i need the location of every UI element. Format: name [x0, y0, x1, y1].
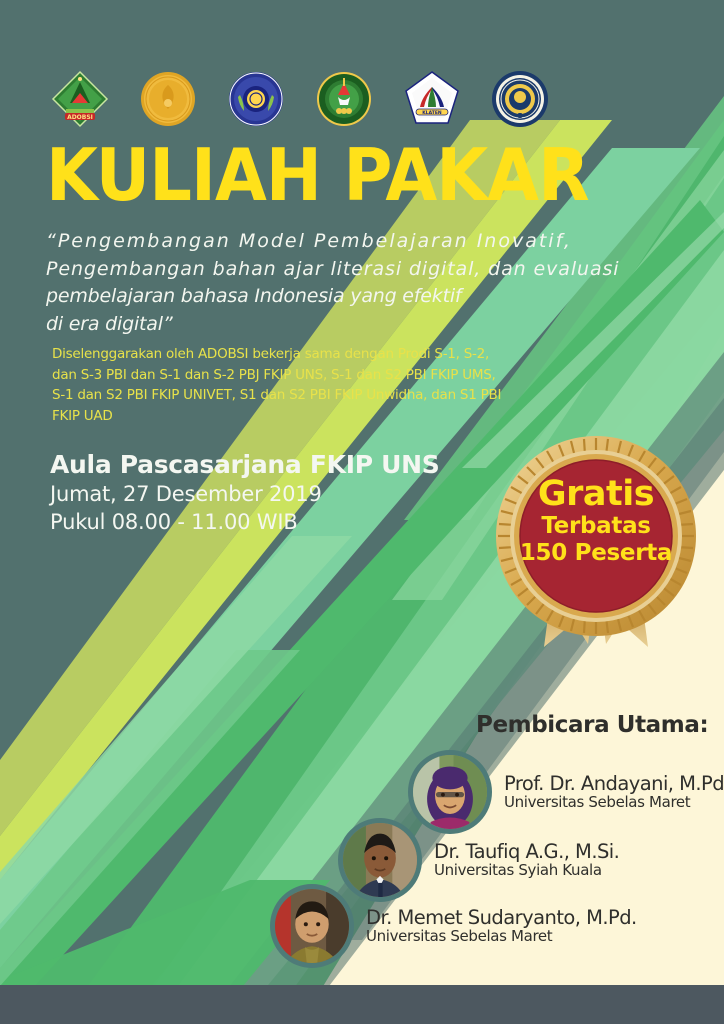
svg-text:KLATEN: KLATEN [422, 110, 442, 116]
speaker-name: Prof. Dr. Andayani, M.Pd. [504, 773, 724, 794]
organizer-line-2: dan S-3 PBI dan S-1 dan S-2 PBJ FKIP UNS… [52, 365, 522, 386]
event-venue: Aula Pascasarjana FKIP UNS [50, 448, 439, 481]
page-title: KULIAH PAKAR [46, 139, 589, 211]
bottom-bar [0, 985, 724, 1024]
uns-logo [138, 69, 198, 129]
speaker-row: Dr. Memet Sudaryanto, M.Pd. Universitas … [270, 884, 637, 968]
organizer-line-3: S-1 dan S2 PBI FKIP UNIVET, S1 dan S2 PB… [52, 385, 522, 406]
organizer-block: Diselenggarakan oleh ADOBSI bekerja sama… [52, 344, 522, 426]
speaker-org: Universitas Sebelas Maret [366, 928, 637, 945]
speakers-heading: Pembicara Utama: [476, 712, 708, 738]
speaker-info: Dr. Memet Sudaryanto, M.Pd. Universitas … [354, 907, 637, 945]
organizer-line-4: FKIP UAD [52, 406, 522, 427]
speaker-org: Universitas Sebelas Maret [504, 794, 724, 811]
organizer-line-1: Diselenggarakan oleh ADOBSI bekerja sama… [52, 344, 522, 365]
svg-text:ADOBSI: ADOBSI [67, 114, 93, 121]
event-date: Jumat, 27 Desember 2019 [50, 481, 439, 509]
theme-line-1: “Pengembangan Model Pembelajaran Inovati… [46, 228, 646, 256]
theme-line-4: di era digital” [46, 311, 646, 339]
speaker-info: Prof. Dr. Andayani, M.Pd. Universitas Se… [492, 773, 724, 811]
speaker-info: Dr. Taufiq A.G., M.Si. Universitas Syiah… [422, 841, 619, 879]
theme-line-3: pembelajaran bahasa Indonesia yang efekt… [46, 283, 646, 311]
univet-logo [314, 69, 374, 129]
ums-logo [226, 69, 286, 129]
speaker-name: Dr. Memet Sudaryanto, M.Pd. [366, 907, 637, 928]
speaker-org: Universitas Syiah Kuala [434, 862, 619, 879]
uad-logo [490, 69, 550, 129]
theme-quote: “Pengembangan Model Pembelajaran Inovati… [46, 228, 646, 338]
adobsi-logo: ADOBSI [50, 69, 110, 129]
speaker-name: Dr. Taufiq A.G., M.Si. [434, 841, 619, 862]
event-details: Aula Pascasarjana FKIP UNS Jumat, 27 Des… [50, 448, 439, 536]
speaker-photo-memet [270, 884, 354, 968]
gratis-badge: Gratis Terbatas 150 Peserta [492, 432, 700, 657]
unwidha-logo: KLATEN [402, 69, 462, 129]
event-time: Pukul 08.00 - 11.00 WIB [50, 509, 439, 537]
logo-row: ADOBSI [50, 68, 550, 130]
theme-line-2: Pengembangan bahan ajar literasi digital… [46, 256, 646, 284]
poster-root: ADOBSI [0, 0, 724, 1024]
badge-red-disc [520, 460, 672, 612]
